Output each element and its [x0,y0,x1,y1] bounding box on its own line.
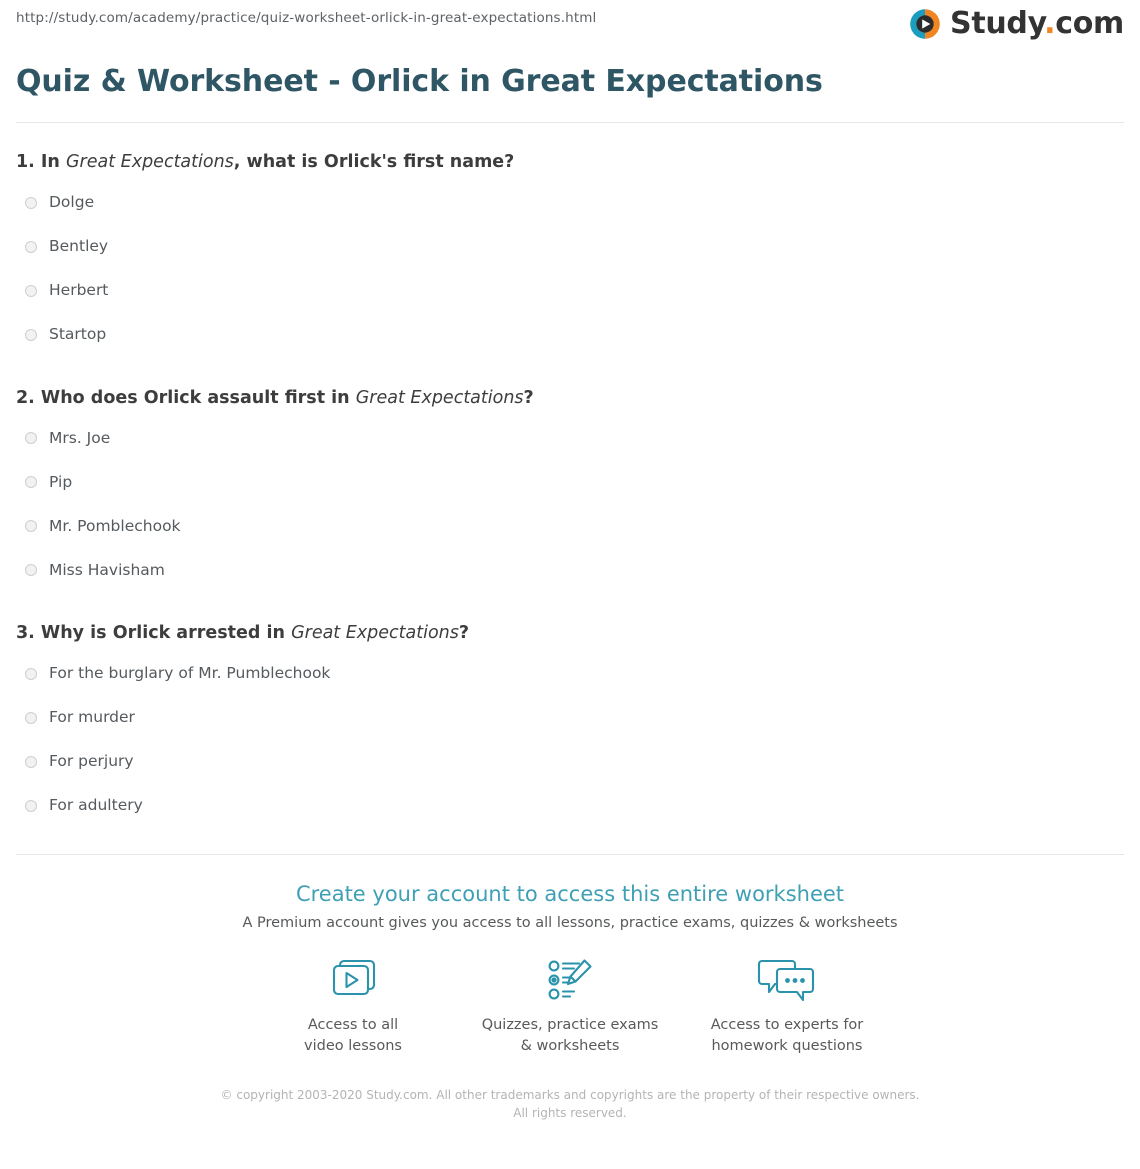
question-italic-title: Great Expectations [356,388,524,408]
worksheet-page: http://study.com/academy/practice/quiz-w… [0,0,1140,1169]
option-row[interactable]: Miss Havisham [16,548,1124,592]
question-block: 2. Who does Orlick assault first in Grea… [16,387,1124,593]
feature-line-2: & worksheets [521,1038,620,1054]
question-suffix: ? [524,388,534,408]
radio-button-icon[interactable] [25,712,37,724]
feature-quizzes: Quizzes, practice exams & worksheets [462,953,679,1056]
question-text: 1. In Great Expectations, what is Orlick… [16,151,1124,175]
option-label: Pip [49,475,72,491]
radio-button-icon[interactable] [25,668,37,680]
question-block: 3. Why is Orlick arrested in Great Expec… [16,622,1124,828]
chat-bubbles-icon [679,953,896,1009]
radio-button-icon[interactable] [25,285,37,297]
feature-video-lessons: Access to all video lessons [245,953,462,1056]
option-label: Startop [49,327,106,343]
question-block: 1. In Great Expectations, what is Orlick… [16,151,1124,357]
question-italic-title: Great Expectations [66,152,234,172]
option-label: Dolge [49,195,94,211]
question-number: 3. [16,623,35,643]
question-prefix: In [41,152,66,172]
option-label: For perjury [49,754,134,770]
play-circle-icon [908,7,942,41]
question-prefix: Why is Orlick arrested in [41,623,291,643]
logo-wordmark: Study.com [950,9,1124,39]
radio-button-icon[interactable] [25,329,37,341]
feature-text: Access to experts for homework questions [679,1015,896,1056]
option-label: Mr. Pomblechook [49,519,181,535]
copyright-notice: © copyright 2003-2020 Study.com. All oth… [215,1086,925,1122]
radio-button-icon[interactable] [25,756,37,768]
premium-features: Access to all video lessons [0,953,1140,1056]
feature-line-1: Quizzes, practice exams [482,1017,659,1033]
option-label: Bentley [49,239,108,255]
option-row[interactable]: For the burglary of Mr. Pumblechook [16,652,1124,696]
quiz-questions: 1. In Great Expectations, what is Orlick… [0,151,1140,828]
option-row[interactable]: Startop [16,313,1124,357]
title-divider [16,122,1124,123]
option-row[interactable]: For murder [16,696,1124,740]
quiz-checklist-pencil-icon [462,953,679,1009]
page-url: http://study.com/academy/practice/quiz-w… [16,10,596,26]
question-text: 3. Why is Orlick arrested in Great Expec… [16,622,1124,646]
page-header: http://study.com/academy/practice/quiz-w… [0,0,1140,56]
question-text: 2. Who does Orlick assault first in Grea… [16,387,1124,411]
options-list: Dolge Bentley Herbert Startop [16,181,1124,357]
option-row[interactable]: For adultery [16,784,1124,828]
option-row[interactable]: Herbert [16,269,1124,313]
question-prefix: Who does Orlick assault first in [41,388,356,408]
option-row[interactable]: Mr. Pomblechook [16,504,1124,548]
logo-dot: . [1044,6,1055,41]
option-row[interactable]: Pip [16,460,1124,504]
cta-subtitle: A Premium account gives you access to al… [0,915,1140,931]
radio-button-icon[interactable] [25,800,37,812]
option-row[interactable]: For perjury [16,740,1124,784]
radio-button-icon[interactable] [25,520,37,532]
option-label: Herbert [49,283,108,299]
option-label: For adultery [49,798,143,814]
cta-section: Create your account to access this entir… [0,855,1140,931]
option-row[interactable]: Dolge [16,181,1124,225]
question-number: 1. [16,152,35,172]
question-suffix: ? [459,623,469,643]
page-title: Quiz & Worksheet - Orlick in Great Expec… [16,64,1124,100]
options-list: For the burglary of Mr. Pumblechook For … [16,652,1124,828]
radio-button-icon[interactable] [25,432,37,444]
feature-line-2: video lessons [304,1038,402,1054]
question-suffix: , what is Orlick's first name? [234,152,515,172]
question-italic-title: Great Expectations [291,623,459,643]
feature-line-1: Access to all [308,1017,398,1033]
options-list: Mrs. Joe Pip Mr. Pomblechook Miss Havish… [16,416,1124,592]
option-row[interactable]: Bentley [16,225,1124,269]
option-label: Mrs. Joe [49,431,110,447]
option-label: Miss Havisham [49,563,165,579]
feature-line-2: homework questions [711,1038,862,1054]
option-label: For murder [49,710,135,726]
study-com-logo[interactable]: Study.com [908,7,1124,41]
create-account-link[interactable]: Create your account to access this entir… [296,882,844,907]
video-lessons-icon [245,953,462,1009]
logo-tld: com [1055,6,1124,41]
feature-experts: Access to experts for homework questions [679,953,896,1056]
feature-line-1: Access to experts for [711,1017,864,1033]
radio-button-icon[interactable] [25,197,37,209]
radio-button-icon[interactable] [25,564,37,576]
option-label: For the burglary of Mr. Pumblechook [49,666,330,682]
option-row[interactable]: Mrs. Joe [16,416,1124,460]
radio-button-icon[interactable] [25,476,37,488]
feature-text: Quizzes, practice exams & worksheets [462,1015,679,1056]
feature-text: Access to all video lessons [245,1015,462,1056]
radio-button-icon[interactable] [25,241,37,253]
logo-word: Study [950,6,1044,41]
question-number: 2. [16,388,35,408]
